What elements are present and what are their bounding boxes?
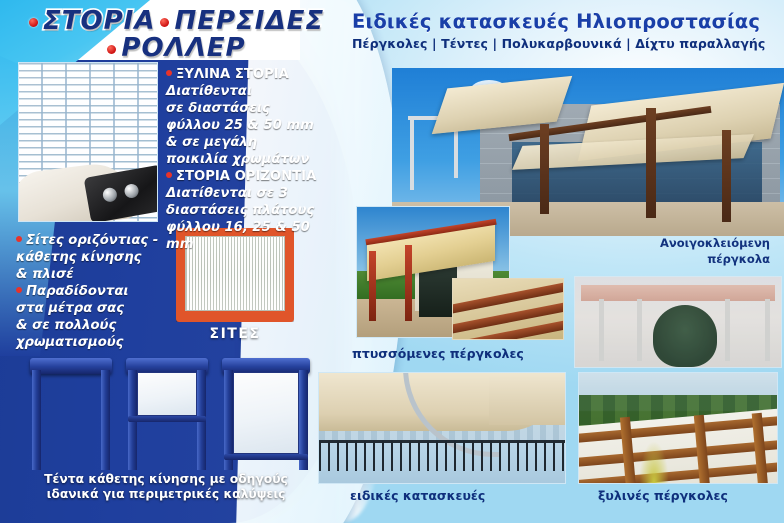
pergola-column [725,299,730,361]
roller-curtain [233,372,299,454]
text-line: Σίτες οριζόντιας - [16,232,176,249]
bullet-dot-icon [166,172,172,178]
caption-folding-pergolas: πτυσσόμενες πέργκολες [352,346,582,361]
main-title: Ειδικές κατασκευές Ηλιοπροστασίας [352,12,780,32]
text-line: & πλισέ [16,266,176,283]
pergola-column [637,299,642,361]
text-block-screens: Σίτες οριζόντιας - κάθετης κίνησης & πλι… [16,232,176,351]
pergola-roof [581,285,775,301]
wooden-post [722,130,731,222]
text-line: στα μέτρα σας [16,300,176,317]
roller-bottom-bar [128,416,206,422]
canopy-fabric [489,373,566,425]
roller-diagram-half [126,358,208,470]
main-subtitle: Πέργκολες | Τέντες | Πολυκαρβουνικά | Δί… [352,36,780,51]
distant-pergola-photo [574,276,782,368]
caption-vertical-awning: Τέντα κάθετης κίνησης με οδηγούς ιδανικά… [16,472,316,503]
bullet-title-text: ΣΤΟΡΙΑ ΟΡΙΖΟΝΤΙΑ [176,169,316,184]
text-line: φύλλου 25 & 50 mm [166,117,338,134]
caption-line: πέργκολα [590,252,770,268]
roller-curtain [137,372,197,416]
wooden-pergola-photo [578,372,778,484]
heading-storia: ΣΤΟΡΙΑ [43,8,155,35]
wooden-post [540,124,549,214]
roller-guide-left [32,370,41,470]
text-line: Παραδίδονται [16,283,176,300]
tree [653,305,717,367]
text-line: & σε μεγάλη [166,134,338,151]
plant [639,441,669,483]
wooden-post [646,108,656,218]
text-block-wooden-blinds: ΞΥΛΙΝΑ ΣΤΟΡΙΑ Διατίθενται σε διαστάσεις … [166,66,338,253]
text-line: ποικιλία χρωμάτων [166,151,338,168]
heading-persides: ΠΕΡΣΙΔΕΣ [174,8,324,35]
bullet-title-horizontal: ΣΤΟΡΙΑ ΟΡΙΖΟΝΤΙΑ [166,168,338,185]
caption-line: Τέντα κάθετης κίνησης με οδηγούς [16,472,316,487]
red-dot-icon [29,18,38,27]
left-heading-group: ΣΤΟΡΙΑΠΕΡΣΙΔΕΣ ΡΟΛΛΕΡ [24,8,324,61]
caption-line: Ανοιγοκλειόμενη [590,236,770,252]
red-dot-icon [107,45,116,54]
folding-pergola-detail-photo [452,278,564,340]
roller-guide-right [101,370,110,470]
venetian-blinds-photo [18,62,158,222]
roller-shutter-diagrams [18,358,308,470]
text-line: χρωματισμούς [16,334,176,351]
roller-diagram-closed [222,358,310,470]
red-dot-icon [160,18,169,27]
roller-bottom-bar [224,454,308,460]
text-line: Διατίθενται [166,83,338,100]
heading-line-1: ΣΤΟΡΙΑΠΕΡΣΙΔΕΣ [24,8,324,35]
text-span: Σίτες οριζόντιας - [26,233,158,248]
text-line: κάθετης κίνησης [16,249,176,266]
heading-roller: ΡΟΛΛΕΡ [121,35,245,62]
canopy-post [405,245,412,321]
text-line: διαστάσεις πλάτους [166,202,338,219]
pergola-column [765,299,770,361]
roller-diagram-open [30,358,112,470]
canopy-post [369,251,376,321]
caption-open-close-pergola: Ανοιγοκλειόμενη πέργκολα [590,236,770,267]
text-line: & σε πολλούς [16,317,176,334]
text-line: σε διαστάσεις [166,100,338,117]
text-span: Παραδίδονται [26,284,129,299]
text-line: φύλλου 16, 25 & 50 mm [166,219,338,253]
caption-wooden-pergolas: ξυλινές πέργκολες [598,488,784,503]
right-heading-group: Ειδικές κατασκευές Ηλιοπροστασίας Πέργκο… [352,12,780,51]
special-construction-photo [318,372,566,484]
caption-special-constructions: ειδικές κατασκευές [350,488,580,503]
sites-label: ΣΙΤΕΣ [176,326,294,342]
text-line: Διατίθενται σε 3 [166,185,338,202]
roller-cassette [30,358,112,374]
bullet-dot-icon [16,287,22,293]
support-post [410,116,414,190]
heading-line-2: ΡΟΛΛΕΡ [24,35,324,62]
bullet-dot-icon [16,236,22,242]
caption-line: ιδανικά για περιμετρικές καλύψεις [16,487,316,502]
bullet-title-wooden: ΞΥΛΙΝΑ ΣΤΟΡΙΑ [166,66,338,83]
bullet-dot-icon [166,70,172,76]
pergola-column [599,299,604,361]
poster-canvas: ΣΙΤΕΣ [0,0,784,523]
bullet-title-text: ΞΥΛΙΝΑ ΣΤΟΡΙΑ [176,67,289,82]
balcony-railing [319,441,565,471]
